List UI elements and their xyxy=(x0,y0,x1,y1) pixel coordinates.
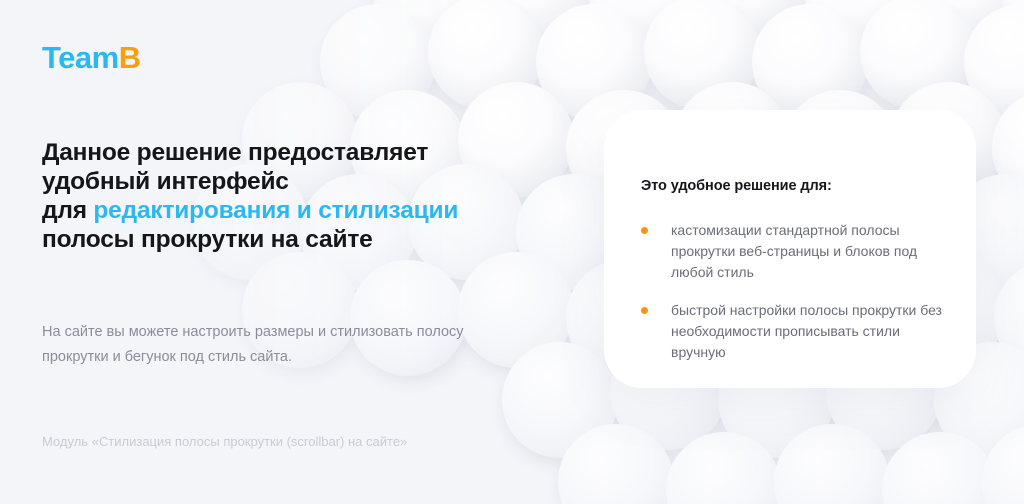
list-item-label: быстрой настройки полосы прокрутки без н… xyxy=(671,302,942,360)
bullet-dot-icon xyxy=(641,307,648,314)
benefits-list: кастомизации стандартной полосы прокрутк… xyxy=(641,220,950,363)
bullet-dot-icon xyxy=(641,227,648,234)
benefits-card: Это удобное решение для: кастомизации ст… xyxy=(604,110,976,388)
brand-logo: TeamB xyxy=(42,42,141,73)
subtitle-text: На сайте вы можете настроить размеры и с… xyxy=(42,320,532,370)
headline-accent-phrase: редактирования и стилизации xyxy=(93,197,458,224)
list-item: быстрой настройки полосы прокрутки без н… xyxy=(641,300,950,363)
slide-canvas: TeamB Данное решение предоставляет удобн… xyxy=(0,0,1024,504)
headline-line-1: Данное решение предоставляет xyxy=(42,139,428,166)
benefits-card-heading: Это удобное решение для: xyxy=(641,178,832,194)
headline-line-4: полосы прокрутки на сайте xyxy=(42,226,373,253)
brand-logo-accent: B xyxy=(119,40,141,75)
brand-logo-primary: Team xyxy=(42,40,119,75)
headline-line-2: удобный интерфейс xyxy=(42,168,289,195)
headline-line-3-prefix: для xyxy=(42,197,93,224)
page-title: Данное решение предоставляет удобный инт… xyxy=(42,138,542,254)
module-caption: Модуль «Стилизация полосы прокрутки (scr… xyxy=(42,433,407,451)
list-item: кастомизации стандартной полосы прокрутк… xyxy=(641,220,950,283)
list-item-label: кастомизации стандартной полосы прокрутк… xyxy=(671,222,917,280)
left-content-column: TeamB Данное решение предоставляет удобн… xyxy=(42,0,562,504)
